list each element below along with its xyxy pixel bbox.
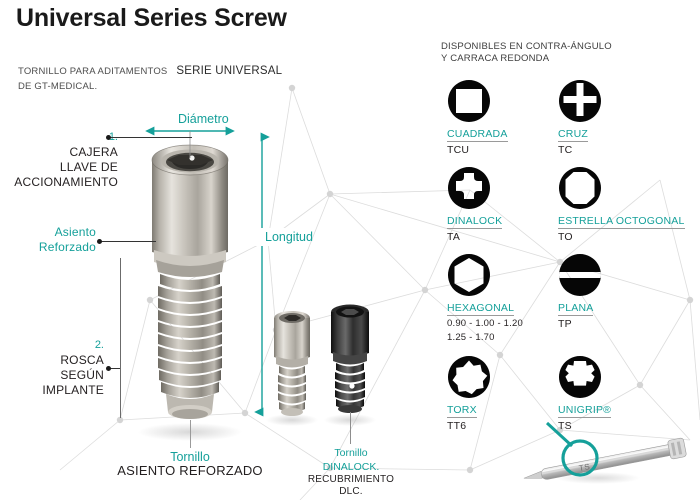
- subtitle-line2: DE GT-MEDICAL.: [18, 81, 97, 92]
- driver-hexagonal-name: HEXAGONAL: [447, 302, 514, 316]
- caption-dinalock: Tornillo DINALOCK. RECUBRIMIENTO DLC.: [296, 446, 406, 498]
- panel-heading: DISPONIBLES EN CONTRA-ÁNGULO Y CARRACA R…: [441, 41, 612, 65]
- torx-drive-icon: [447, 355, 491, 399]
- caption-asiento-reforzado: Tornillo ASIENTO REFORZADO: [115, 450, 265, 478]
- callout-asiento-reforzado: Asiento Reforzado: [12, 225, 96, 255]
- callout-1-dot: [106, 135, 111, 140]
- poster-canvas: Universal Series Screw TORNILLO PARA ADI…: [0, 0, 700, 500]
- callout-1-line2: LLAVE DE: [10, 160, 118, 175]
- driver-estrella-octogonal[interactable]: ESTRELLA OCTOGONAL TO: [558, 166, 685, 243]
- callout-2-line2: Reforzado: [12, 240, 96, 255]
- octagon-drive-icon: [558, 166, 602, 210]
- screwdriver-photo: TS: [520, 420, 700, 500]
- driver-octogonal-code: TO: [558, 231, 685, 243]
- length-label: Longitud: [265, 230, 313, 244]
- callout-rosca: 2. ROSCA SEGÚN IMPLANTE: [8, 336, 104, 398]
- dinalock-drive-icon: [447, 166, 491, 210]
- diameter-label: Diámetro: [178, 112, 229, 126]
- driver-dinalock-name: DINALOCK: [447, 215, 502, 229]
- driver-plana-code: TP: [558, 318, 602, 330]
- callout-cajera: 1. CAJERA LLAVE DE ACCIONAMIENTO: [10, 128, 118, 190]
- callout-2-dot: [97, 239, 102, 244]
- driver-torx-name: TORX: [447, 404, 477, 418]
- driver-cruz-code: TC: [558, 144, 602, 156]
- slot-drive-icon: [558, 253, 602, 297]
- callout-3-line2: SEGÚN: [8, 368, 104, 383]
- driver-octogonal-name: ESTRELLA OCTOGONAL: [558, 215, 685, 229]
- driver-hexagonal-code2: 1.25 - 1.70: [447, 332, 523, 344]
- callout-1-line3: ACCIONAMIENTO: [10, 175, 118, 190]
- driver-cuadrada-code: TCU: [447, 144, 508, 156]
- subtitle-brand: SERIE UNIVERSAL: [176, 65, 282, 77]
- caption-1-teal: Tornillo: [115, 450, 265, 464]
- panel-heading-line2: Y CARRACA REDONDA: [441, 53, 612, 65]
- unigrip-drive-icon: [558, 355, 602, 399]
- callout-3-line3: IMPLANTE: [8, 383, 104, 398]
- callout-3-bracket: [120, 258, 121, 418]
- cross-drive-icon: [558, 79, 602, 123]
- driver-dinalock[interactable]: DINALOCK TA: [447, 166, 502, 243]
- caption-2-dlc: RECUBRIMIENTO DLC.: [296, 474, 406, 498]
- driver-torx-code: TT6: [447, 420, 491, 432]
- callout-3-dot: [106, 366, 111, 371]
- driver-plana[interactable]: PLANA TP: [558, 253, 602, 330]
- highlight-leader: [547, 423, 572, 446]
- caption-2-dinalock: DINALOCK.: [296, 460, 406, 474]
- driver-cuadrada[interactable]: CUADRADA TCU: [447, 79, 508, 156]
- driver-hexagonal-code: 0.90 - 1.00 - 1.20: [447, 318, 523, 330]
- driver-cuadrada-name: CUADRADA: [447, 128, 508, 142]
- driver-cruz-name: CRUZ: [558, 128, 588, 142]
- subtitle-block: TORNILLO PARA ADITAMENTOS SERIE UNIVERSA…: [18, 63, 282, 93]
- square-drive-icon: [447, 79, 491, 123]
- driver-cruz[interactable]: CRUZ TC: [558, 79, 602, 156]
- caption-2-leader: [350, 412, 351, 444]
- callout-1-leader: [110, 137, 192, 138]
- driver-plana-name: PLANA: [558, 302, 593, 316]
- driver-unigrip-name: UNIGRIP®: [558, 404, 611, 418]
- driver-torx[interactable]: TORX TT6: [447, 355, 491, 432]
- subtitle-line1: TORNILLO PARA ADITAMENTOS: [18, 66, 167, 77]
- driver-hexagonal[interactable]: HEXAGONAL 0.90 - 1.00 - 1.20 1.25 - 1.70: [447, 253, 523, 343]
- callout-3-number: 2.: [95, 339, 104, 351]
- panel-heading-line1: DISPONIBLES EN CONTRA-ÁNGULO: [441, 41, 612, 53]
- hexagon-drive-icon: [447, 253, 491, 297]
- caption-1-leader: [190, 420, 191, 448]
- callout-1-line1: CAJERA: [10, 145, 118, 160]
- driver-dinalock-code: TA: [447, 231, 502, 243]
- callout-2-leader: [101, 241, 156, 242]
- caption-2-teal: Tornillo: [296, 446, 406, 460]
- callout-2-line1: Asiento: [12, 225, 96, 240]
- callout-3-leader: [110, 368, 120, 369]
- page-title: Universal Series Screw: [16, 4, 287, 33]
- callout-3-line1: ROSCA: [8, 353, 104, 368]
- caption-1-dark: ASIENTO REFORZADO: [115, 464, 265, 478]
